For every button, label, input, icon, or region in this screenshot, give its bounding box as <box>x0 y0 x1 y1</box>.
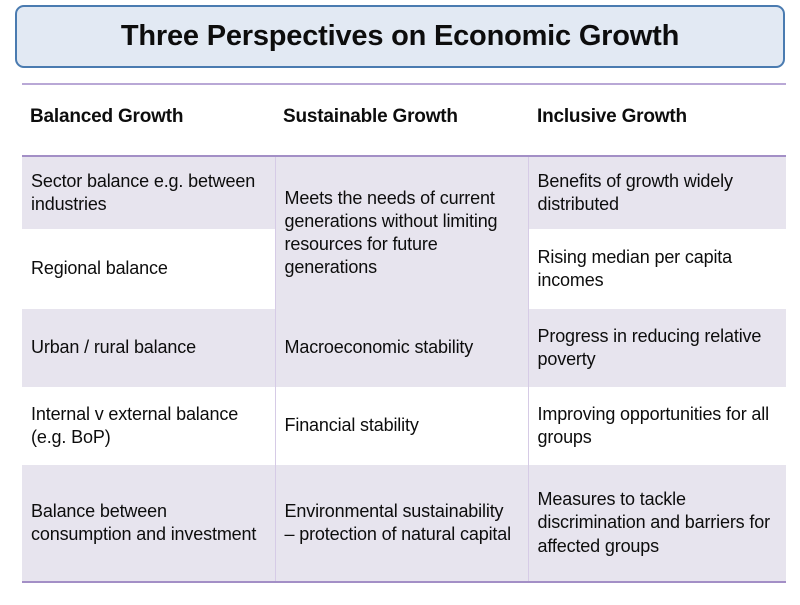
perspectives-table: Sector balance e.g. between industries M… <box>22 157 786 581</box>
cell-sustainable-1: Meets the needs of current generations w… <box>275 157 528 309</box>
cell-balanced-2: Regional balance <box>22 229 275 309</box>
cell-balanced-1: Sector balance e.g. between industries <box>22 157 275 229</box>
cell-inclusive-5: Measures to tackle discrimination and ba… <box>528 465 786 581</box>
cell-sustainable-2: Macroeconomic stability <box>275 309 528 387</box>
table-row: Internal v external balance (e.g. BoP) F… <box>22 387 786 465</box>
cell-inclusive-2: Rising median per capita incomes <box>528 229 786 309</box>
column-header-sustainable-growth: Sustainable Growth <box>283 106 458 128</box>
cell-balanced-4: Internal v external balance (e.g. BoP) <box>22 387 275 465</box>
cell-sustainable-4: Environmental sustainability – protectio… <box>275 465 528 581</box>
cell-inclusive-3: Progress in reducing relative poverty <box>528 309 786 387</box>
title-divider-rule <box>22 83 786 85</box>
cell-balanced-5: Balance between consumption and investme… <box>22 465 275 581</box>
page-title: Three Perspectives on Economic Growth <box>121 21 679 53</box>
table-row: Sector balance e.g. between industries M… <box>22 157 786 229</box>
cell-inclusive-4: Improving opportunities for all groups <box>528 387 786 465</box>
column-header-inclusive-growth: Inclusive Growth <box>537 106 687 128</box>
cell-inclusive-1: Benefits of growth widely distributed <box>528 157 786 229</box>
table-row: Balance between consumption and investme… <box>22 465 786 581</box>
column-header-balanced-growth: Balanced Growth <box>30 106 183 128</box>
slide-canvas: Three Perspectives on Economic Growth Ba… <box>0 0 800 605</box>
perspectives-table-wrapper: Sector balance e.g. between industries M… <box>22 155 786 583</box>
slide-title-banner: Three Perspectives on Economic Growth <box>15 5 785 68</box>
table-row: Urban / rural balance Macroeconomic stab… <box>22 309 786 387</box>
cell-sustainable-3: Financial stability <box>275 387 528 465</box>
cell-balanced-3: Urban / rural balance <box>22 309 275 387</box>
column-header-row: Balanced Growth Sustainable Growth Inclu… <box>22 106 786 140</box>
